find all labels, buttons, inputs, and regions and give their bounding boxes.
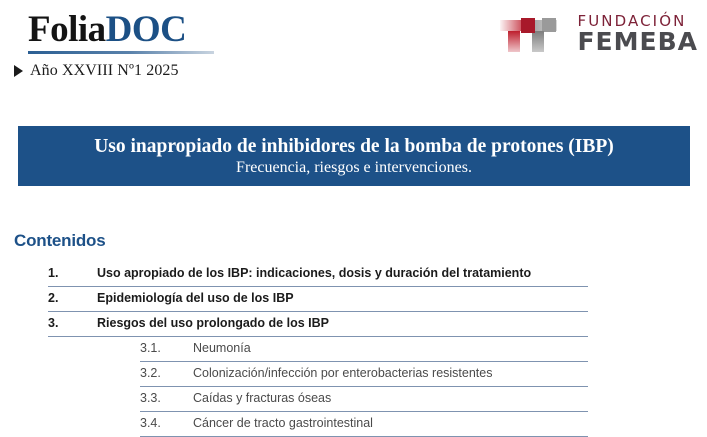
article-subtitle: Frecuencia, riesgos e intervenciones. xyxy=(236,158,472,177)
toc-row[interactable]: 2.Epidemiología del uso de los IBP xyxy=(48,287,588,312)
toc-row[interactable]: 3.2.Colonización/infección por enterobac… xyxy=(140,362,588,387)
foliadoc-logo: FoliaDOC xyxy=(28,10,218,54)
table-of-contents: 1.Uso apropiado de los IBP: indicaciones… xyxy=(0,262,707,437)
toc-row-number: 3.1. xyxy=(140,337,193,355)
brand-underline-rule xyxy=(28,51,214,54)
article-title-banner: Uso inapropiado de inhibidores de la bom… xyxy=(18,126,690,186)
femeba-mark-red-block xyxy=(521,18,535,33)
femeba-mark-gray-block xyxy=(542,18,556,32)
femeba-wordmark: FUNDACIÓN FEMEBA xyxy=(577,12,698,55)
femeba-mark-red-stem xyxy=(508,31,520,52)
toc-row-number: 3.4. xyxy=(140,412,193,430)
brand-folia-text: Folia xyxy=(28,9,106,50)
femeba-name-text: FEMEBA xyxy=(577,29,698,55)
toc-row-label: Neumonía xyxy=(193,337,588,355)
page-masthead: FoliaDOC Año XXVIII Nº1 2025 FUNDACIÓN F… xyxy=(0,0,707,100)
toc-row-label: Colonización/infección por enterobacteri… xyxy=(193,362,588,380)
femeba-cross-mark-icon xyxy=(498,15,570,55)
brand-doc-text: DOC xyxy=(106,9,187,50)
issue-line: Año XXVIII Nº1 2025 xyxy=(14,62,179,80)
toc-row-label: Riesgos del uso prolongado de los IBP xyxy=(97,312,588,330)
toc-row-label: Uso apropiado de los IBP: indicaciones, … xyxy=(97,262,588,280)
contents-heading: Contenidos xyxy=(14,231,106,251)
toc-row[interactable]: 3.1.Neumonía xyxy=(140,337,588,362)
toc-row-number: 3.3. xyxy=(140,387,193,405)
toc-row-number: 1. xyxy=(48,262,97,280)
foliadoc-wordmark: FoliaDOC xyxy=(28,10,218,50)
toc-row-label: Epidemiología del uso de los IBP xyxy=(97,287,588,305)
toc-row-number: 3. xyxy=(48,312,97,330)
triangle-right-icon xyxy=(14,65,23,77)
femeba-mark-gray-stem xyxy=(532,31,544,52)
toc-row-number: 2. xyxy=(48,287,97,305)
toc-row-label: Caídas y fracturas óseas xyxy=(193,387,588,405)
toc-row-number: 3.2. xyxy=(140,362,193,380)
toc-row[interactable]: 3.4.Cáncer de tracto gastrointestinal xyxy=(140,412,588,437)
toc-row[interactable]: 3.3.Caídas y fracturas óseas xyxy=(140,387,588,412)
toc-row[interactable]: 1.Uso apropiado de los IBP: indicaciones… xyxy=(48,262,588,287)
toc-row[interactable]: 3.Riesgos del uso prolongado de los IBP xyxy=(48,312,588,337)
article-title: Uso inapropiado de inhibidores de la bom… xyxy=(94,135,614,158)
issue-label: Año XXVIII Nº1 2025 xyxy=(30,62,179,80)
toc-row-label: Cáncer de tracto gastrointestinal xyxy=(193,412,588,430)
fundacion-femeba-logo: FUNDACIÓN FEMEBA xyxy=(498,12,698,55)
